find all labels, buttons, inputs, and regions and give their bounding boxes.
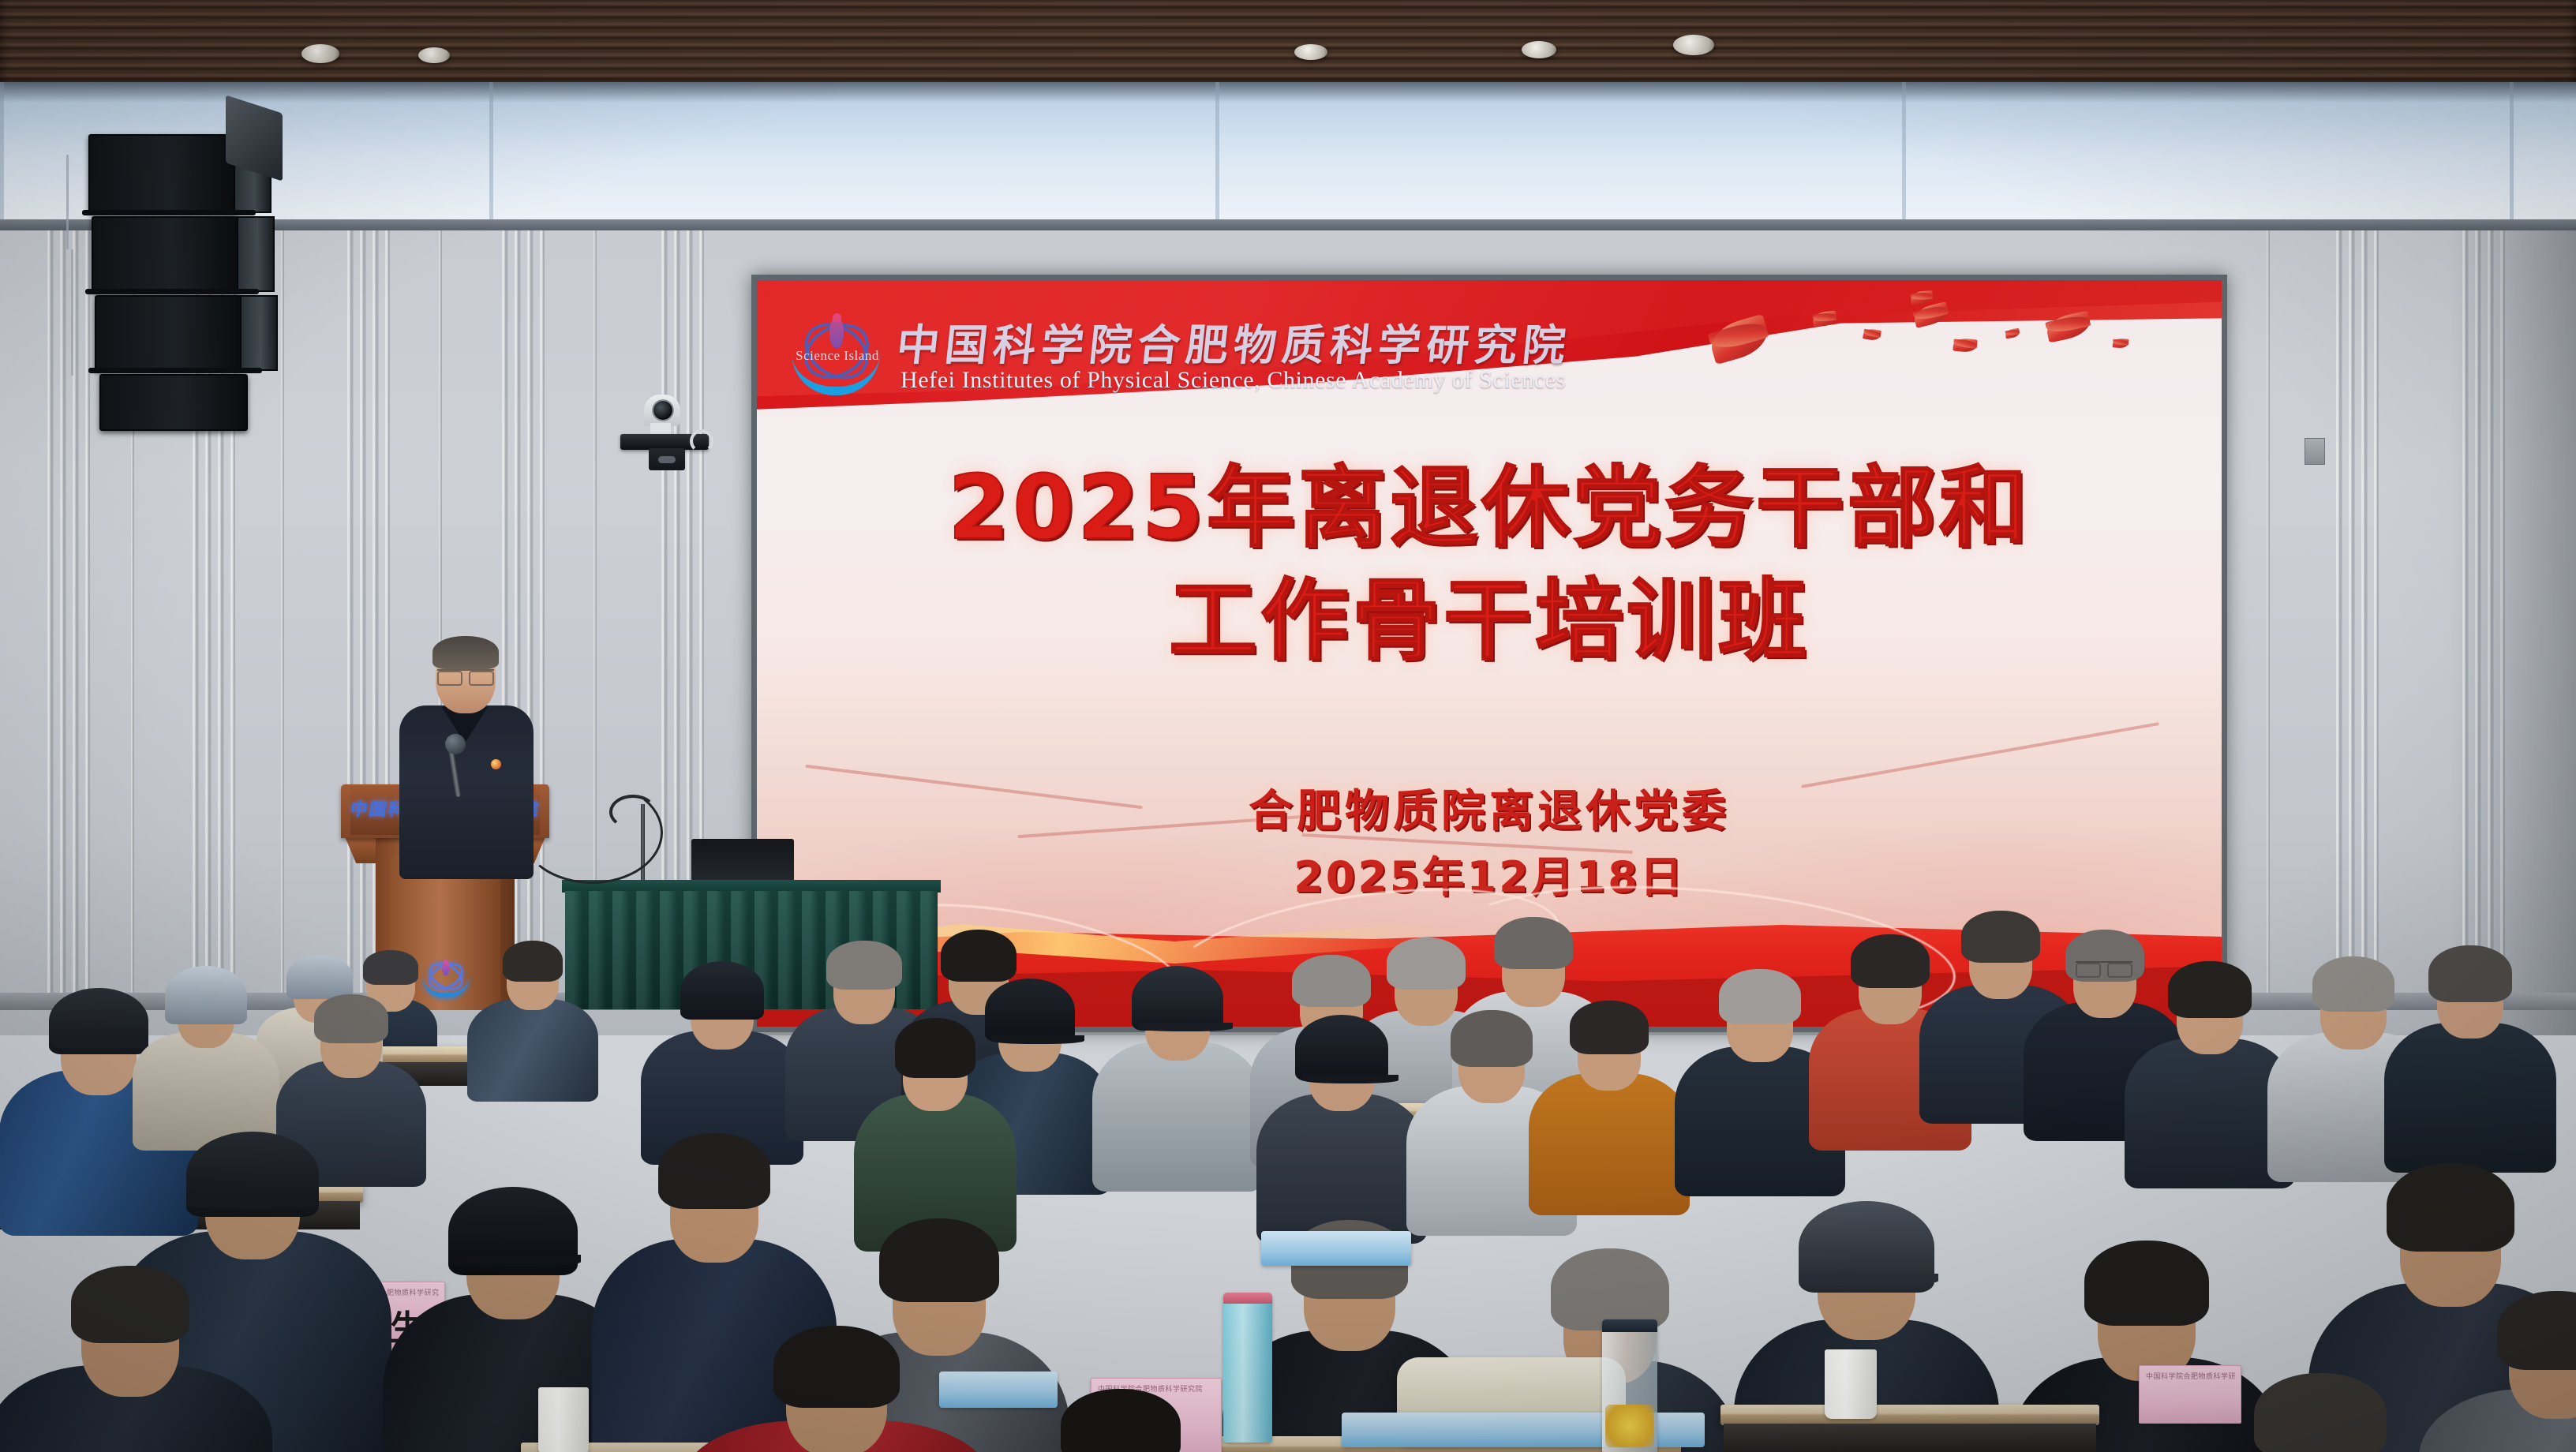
attendee-cap-brim — [1302, 1075, 1398, 1083]
window-mullion — [489, 82, 493, 224]
attendee-cap — [1295, 1015, 1388, 1081]
attendee — [0, 1255, 260, 1452]
speaker-rigging-bar — [82, 210, 256, 215]
ceiling-light — [1294, 44, 1327, 60]
attendee-cap — [165, 966, 247, 1024]
attendee-hair — [1570, 1001, 1649, 1054]
bird-icon — [1863, 327, 1881, 342]
wall-panel-seam — [2267, 230, 2270, 993]
science-island-logo: Science Island — [790, 313, 883, 395]
speaker-safety-cable — [71, 249, 73, 376]
attendee — [2431, 1286, 2576, 1452]
attendee-hair — [1494, 917, 1573, 969]
tea-jar — [1602, 1319, 1657, 1452]
audience-area: 中国科学院合肥物质科学研究院 中国科学院合肥物质科学研究院 利生 — [0, 884, 2576, 1452]
attendee-body — [1529, 1073, 1690, 1215]
attendee-hair — [658, 1133, 770, 1209]
speaker-rigging-bar — [85, 289, 259, 294]
ceiling-light — [1522, 41, 1556, 58]
attendee-cap-brim — [1138, 1023, 1233, 1031]
attendee-hair — [2254, 1373, 2387, 1452]
attendee — [1263, 1010, 1421, 1223]
wall-fluting — [2336, 230, 2379, 993]
wood-slat-ceiling — [0, 0, 2576, 88]
conference-hall-photo: Science Island 中国科学院合肥物质科学研究院 Hefei Inst… — [0, 0, 2576, 1452]
attendee-cap-brim — [1799, 1274, 1938, 1285]
speaker-module — [92, 216, 240, 292]
presenter-glasses — [437, 669, 494, 681]
attendee — [695, 1326, 979, 1452]
attendee-hair — [1961, 911, 2040, 963]
attendee-hair — [2387, 1163, 2514, 1252]
wall-plate — [2305, 438, 2325, 465]
attendee — [987, 1389, 1255, 1452]
bird-icon — [2113, 338, 2129, 348]
ceiling-light — [418, 47, 450, 63]
institute-name-cn: 中国科学院合肥物质科学研究院 — [894, 310, 1574, 372]
chrysanthemum-tea — [1605, 1405, 1654, 1447]
attendee-hair — [1719, 969, 1801, 1024]
attendee-cap-brim — [186, 1198, 319, 1209]
attendee-body — [467, 999, 598, 1102]
speaker-module — [99, 374, 248, 431]
speaker-module — [88, 134, 237, 213]
thermos-cap — [1223, 1293, 1272, 1304]
camera-lens-icon — [652, 399, 674, 421]
blue-folder — [1261, 1231, 1411, 1266]
attendee-hair — [1061, 1389, 1181, 1452]
attendee-hair — [314, 994, 388, 1043]
attendee-glasses — [2076, 961, 2132, 973]
screen-title-line1: 2025年离退休党务干部和 — [948, 457, 2031, 559]
paper-cup — [538, 1387, 589, 1452]
attendee-cap-brim — [52, 1040, 148, 1049]
speaker-rigging-bar — [88, 368, 262, 373]
speaker-side-panel — [240, 295, 278, 371]
speaker-side-panel — [237, 216, 275, 292]
camera-cable-loop — [690, 429, 713, 453]
clerestory-window-band — [0, 82, 2576, 224]
attendee-hair — [826, 941, 902, 990]
ceiling-light — [1673, 35, 1714, 55]
attendee — [1099, 960, 1256, 1173]
attendee — [139, 960, 273, 1133]
paper-cup — [1825, 1349, 1877, 1419]
screen-title-line2: 工作骨干培训班 — [757, 565, 2222, 678]
attendee-hair — [2312, 956, 2394, 1012]
attendee-cap — [680, 961, 764, 1020]
presenter-hair — [432, 636, 499, 669]
party-emblem-badge — [491, 759, 501, 769]
institute-name-en: Hefei Institutes of Physical Science, Ch… — [900, 367, 1566, 394]
camera-wall-mount — [649, 448, 685, 470]
attendee-hair — [1551, 1248, 1669, 1330]
attendee-hair — [1451, 1010, 1533, 1067]
desk-front — [1724, 1424, 2096, 1452]
attendee — [1534, 994, 1684, 1199]
attendee-body — [1092, 1042, 1263, 1192]
attendee-hair — [503, 941, 563, 982]
bird-icon — [1953, 337, 1978, 353]
bird-icon — [1812, 310, 1837, 327]
logo-dot-icon — [833, 313, 841, 322]
attendee — [474, 931, 592, 1089]
attendee-hair — [2497, 1291, 2576, 1370]
window-mullion — [2510, 82, 2514, 224]
attendee-cap — [1132, 966, 1223, 1031]
attendee-hair — [2168, 961, 2252, 1018]
attendee-hair — [1387, 937, 1466, 990]
bird-icon — [2005, 328, 2020, 339]
podium-microphone-head — [445, 734, 466, 754]
podium-shoulder-left — [344, 835, 376, 863]
logo-wordmark: Science Island — [793, 348, 882, 364]
laptop — [691, 839, 794, 881]
camera-mount-slot — [658, 456, 676, 463]
attendee-hair — [773, 1326, 900, 1408]
bird-icon — [1910, 290, 1933, 305]
attendee-hair — [71, 1266, 189, 1343]
attendee-hair — [879, 1218, 999, 1302]
ceiling-shadow — [0, 82, 2576, 103]
ceiling-light — [301, 44, 339, 63]
attendee — [2391, 939, 2549, 1152]
line-array-loudspeaker — [79, 76, 284, 431]
ptz-conference-camera — [617, 395, 712, 470]
attendee-hair — [2428, 945, 2512, 1002]
attendee-hair — [1851, 934, 1930, 988]
screen-title: 2025年离退休党务干部和 工作骨干培训班 — [757, 452, 2222, 679]
window-mullion — [1215, 82, 1219, 224]
window-mullion — [0, 82, 4, 224]
screen-organizer: 合肥物质院离退休党委 — [757, 776, 2222, 840]
attendee — [2131, 955, 2289, 1168]
attendee-hair — [895, 1018, 975, 1078]
attendee-hair — [2084, 1241, 2209, 1326]
speaker-module — [95, 295, 243, 371]
tea-jar-cap — [1602, 1319, 1657, 1332]
window-mullion — [1902, 82, 1906, 224]
desk — [1720, 1405, 2099, 1425]
attendee-cap-brim — [448, 1255, 581, 1267]
speaker-safety-cable — [66, 155, 69, 249]
presenter — [393, 641, 535, 878]
